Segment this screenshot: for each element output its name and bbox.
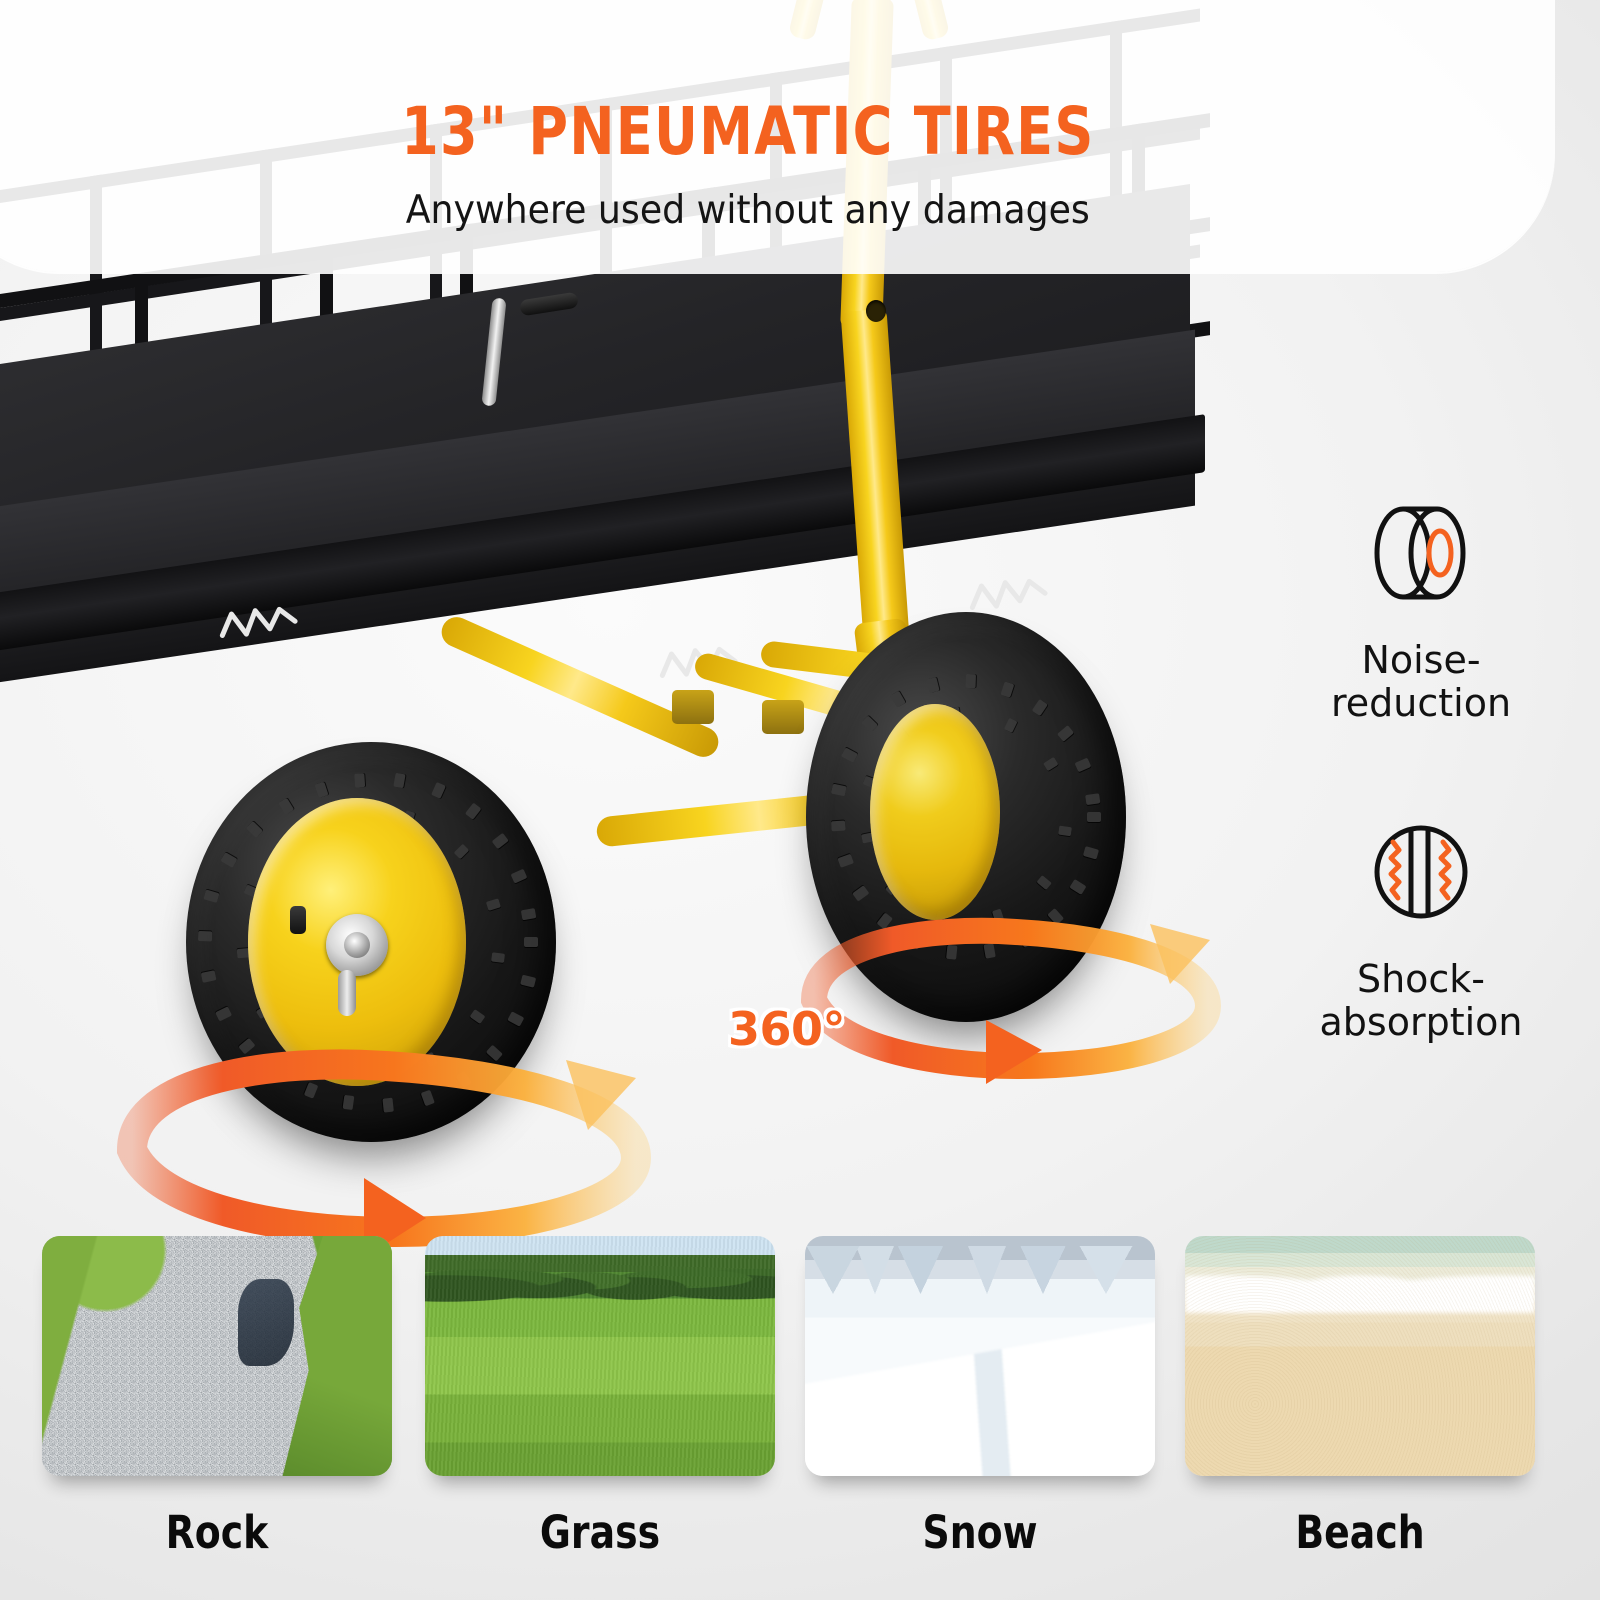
tire-cylinder-icon [1361, 487, 1481, 619]
feature-label-shock: Shock- absorption [1320, 958, 1523, 1044]
feature-label-line1: Shock- [1357, 957, 1485, 1001]
terrain-item-rock[interactable]: Rock [42, 1236, 392, 1555]
tire-tread-circle-icon [1361, 806, 1481, 938]
terrain-label-rock: Rock [70, 1510, 364, 1555]
feature-shock-absorption: Shock- absorption [1256, 806, 1586, 1044]
deck-mount [672, 690, 714, 724]
terrain-item-grass[interactable]: Grass [425, 1236, 775, 1555]
sand-wave-thumbnail [1185, 1236, 1535, 1476]
hub-cotter-pin [338, 970, 356, 1016]
product-feature-banner: 360° 13" PNEUMATIC TIRES Anywhere used w… [0, 0, 1600, 1600]
feature-label-line2: absorption [1320, 1000, 1523, 1044]
terrain-label-snow: Snow [833, 1510, 1127, 1555]
snow-field-thumbnail [805, 1236, 1155, 1476]
deck-mount [762, 700, 804, 734]
green-lawn-thumbnail [425, 1236, 775, 1476]
terrain-thumbnail-grass[interactable] [425, 1236, 775, 1476]
terrain-label-grass: Grass [453, 1510, 747, 1555]
terrain-label-beach: Beach [1213, 1510, 1507, 1555]
terrain-thumbnail-rock[interactable] [42, 1236, 392, 1476]
feature-label-line1: Noise- [1361, 638, 1480, 682]
terrain-gallery: Rock Grass Snow Beach [0, 1236, 1600, 1600]
header-banner-card: 13" PNEUMATIC TIRES Anywhere used withou… [0, 0, 1555, 272]
feature-label-line2: reduction [1331, 681, 1511, 725]
terrain-thumbnail-snow[interactable] [805, 1236, 1155, 1476]
terrain-item-beach[interactable]: Beach [1185, 1236, 1535, 1555]
handle-bolt-hole [866, 300, 886, 322]
page-subtitle: Anywhere used without any damages [405, 191, 1089, 230]
rotation-arrow-front-wheel [96, 1018, 676, 1248]
wheel-rim-rear [870, 704, 1000, 920]
tire-valve-stem [290, 906, 306, 934]
terrain-thumbnail-beach[interactable] [1185, 1236, 1535, 1476]
feature-label-noise: Noise- reduction [1331, 639, 1511, 725]
feature-noise-reduction: Noise- reduction [1256, 487, 1586, 725]
rotation-degree-label: 360° [728, 1002, 845, 1056]
page-title: 13" PNEUMATIC TIRES [401, 99, 1094, 165]
terrain-item-snow[interactable]: Snow [805, 1236, 1155, 1555]
gravel-path-thumbnail [42, 1236, 392, 1476]
wheel-axle-nut [344, 932, 370, 958]
rotation-arrow-rear-wheel [790, 898, 1230, 1088]
